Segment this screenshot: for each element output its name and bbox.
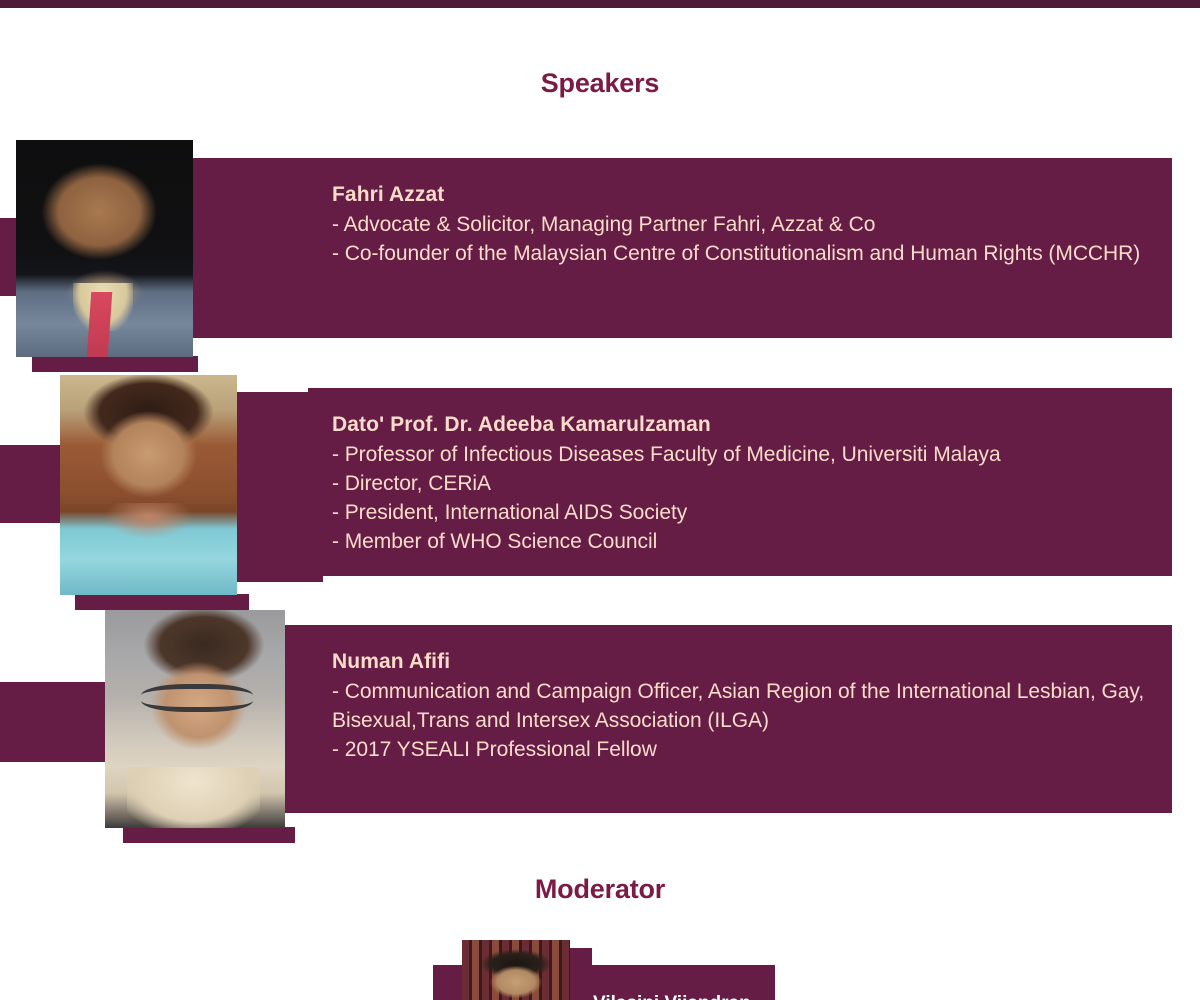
speaker-3-panel: Numan Afifi - Communication and Campaign… — [308, 625, 1172, 813]
speaker-1-accent-bottom — [32, 356, 198, 372]
speaker-3-line-2: - 2017 YSEALI Professional Fellow — [332, 735, 1156, 764]
slide-canvas: Speakers Fahri Azzat - Advocate & Solici… — [0, 0, 1200, 1000]
speaker-2-line-1: - Professor of Infectious Diseases Facul… — [332, 440, 1156, 469]
speaker-2-name: Dato' Prof. Dr. Adeeba Kamarulzaman — [332, 410, 1156, 439]
speaker-2-photo — [60, 375, 237, 595]
speaker-1-panel: Fahri Azzat - Advocate & Solicitor, Mana… — [308, 158, 1172, 338]
speaker-1-photo — [16, 140, 193, 357]
speaker-2-line-2: - Director, CERiA — [332, 469, 1156, 498]
moderator-photo — [462, 940, 570, 1000]
speaker-1-name: Fahri Azzat — [332, 180, 1156, 209]
speaker-1-line-2: - Co-founder of the Malaysian Centre of … — [332, 239, 1156, 268]
speaker-2-line-3: - President, International AIDS Society — [332, 498, 1156, 527]
page-title-moderator: Moderator — [0, 874, 1200, 905]
speaker-3-accent-bottom — [123, 827, 295, 843]
speaker-3-photo — [105, 610, 285, 828]
speaker-3-accent-left — [0, 682, 105, 762]
moderator-name: Vilasini Vijandran — [593, 993, 751, 1000]
speaker-2-line-4: - Member of WHO Science Council — [332, 527, 1156, 556]
top-accent-bar — [0, 0, 1200, 8]
speaker-1-line-1: - Advocate & Solicitor, Managing Partner… — [332, 210, 1156, 239]
speaker-3-line-1: - Communication and Campaign Officer, As… — [332, 677, 1156, 735]
speaker-2-accent-bottom — [75, 594, 249, 610]
speaker-2-panel: Dato' Prof. Dr. Adeeba Kamarulzaman - Pr… — [308, 388, 1172, 576]
page-title-speakers: Speakers — [0, 68, 1200, 99]
speaker-1-accent-right — [192, 158, 322, 338]
speaker-3-name: Numan Afifi — [332, 647, 1156, 676]
